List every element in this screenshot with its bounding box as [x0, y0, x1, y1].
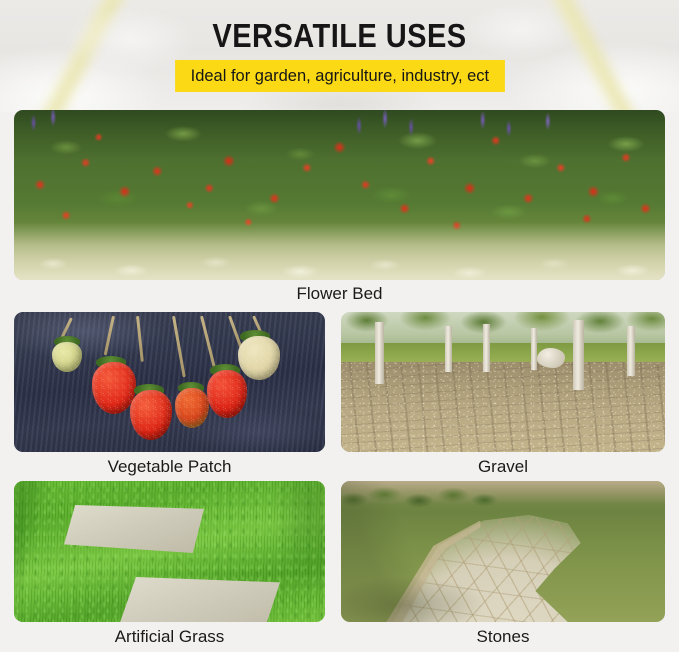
stones-photo: [341, 481, 665, 622]
artificial-grass-photo: [14, 481, 325, 622]
gravel-tree-trunk: [375, 322, 384, 384]
flower-bed-white-alyssum: [14, 222, 665, 280]
gallery-image-artificial-grass: [14, 481, 325, 622]
gravel-tree-trunk: [627, 326, 635, 376]
gravel-tree-trunk: [483, 324, 490, 372]
gravel-photo: [341, 312, 665, 452]
gallery-image-gravel: [341, 312, 665, 452]
turf-shadow-edge: [14, 481, 325, 622]
caption-flower-bed: Flower Bed: [14, 283, 665, 305]
page-title: VERSATILE USES: [41, 16, 639, 56]
gravel-boulder: [537, 348, 565, 368]
gravel-tree-trunk: [573, 320, 584, 390]
fabric-sheen-layer: [14, 312, 325, 452]
versatile-uses-panel: VERSATILE USES Ideal for garden, agricul…: [0, 0, 679, 652]
gallery-image-flower-bed: [14, 110, 665, 280]
subtitle-container: Ideal for garden, agriculture, industry,…: [0, 60, 679, 92]
caption-stones: Stones: [341, 626, 665, 648]
caption-gravel: Gravel: [341, 456, 665, 478]
gravel-tree-trunk: [445, 326, 452, 372]
flower-bed-photo: [14, 110, 665, 280]
caption-vegetable-patch: Vegetable Patch: [14, 456, 325, 478]
gallery-image-vegetable-patch: [14, 312, 325, 452]
stones-shadow-overlay: [341, 481, 665, 622]
gallery-image-stones: [341, 481, 665, 622]
gravel-pebble-speckle: [341, 362, 665, 452]
gravel-tree-trunk: [531, 328, 537, 370]
vegetable-patch-photo: [14, 312, 325, 452]
subtitle-badge: Ideal for garden, agriculture, industry,…: [175, 60, 505, 92]
caption-artificial-grass: Artificial Grass: [14, 626, 325, 648]
